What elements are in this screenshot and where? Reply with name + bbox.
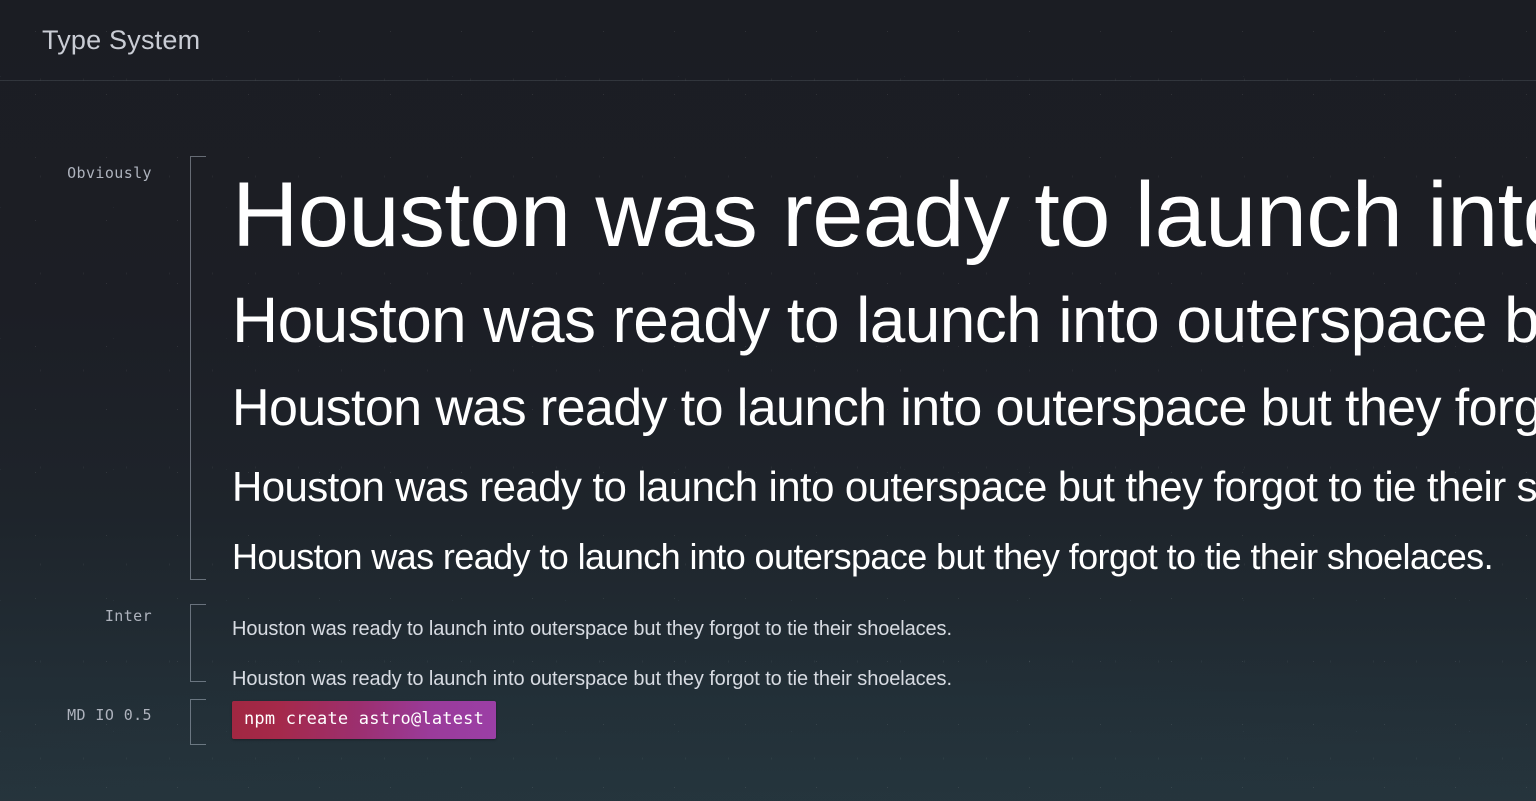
specimen-line: Houston was ready to launch into outersp… <box>232 274 1536 366</box>
page-root: Type System Obviously Houston was ready … <box>0 0 1536 801</box>
group-bracket <box>190 699 206 745</box>
page-header: Type System <box>0 0 1536 81</box>
specimen-lines: Houston was ready to launch into outersp… <box>206 156 1536 590</box>
specimen-group-obviously: Obviously Houston was ready to launch in… <box>0 156 1536 580</box>
specimen-group-code: MD IO 0.5 npm create astro@latest <box>0 699 1536 745</box>
specimen-group-label: Inter <box>0 604 152 624</box>
specimen-group-inter: Inter Houston was ready to launch into o… <box>0 604 1536 682</box>
page-title: Type System <box>42 27 200 54</box>
specimen-lines: npm create astro@latest <box>206 699 1536 739</box>
specimen-line: Houston was ready to launch into outersp… <box>232 654 1536 704</box>
specimen-line: Houston was ready to launch into outersp… <box>232 156 1536 274</box>
group-bracket <box>190 156 206 580</box>
specimen-line: Houston was ready to launch into outersp… <box>232 366 1536 450</box>
specimen-line: Houston was ready to launch into outersp… <box>232 604 1536 654</box>
type-specimen-stage: Obviously Houston was ready to launch in… <box>0 81 1536 801</box>
specimen-group-label: MD IO 0.5 <box>0 699 152 723</box>
specimen-lines: Houston was ready to launch into outersp… <box>206 604 1536 704</box>
group-bracket <box>190 604 206 682</box>
code-snippet-chip[interactable]: npm create astro@latest <box>232 701 496 739</box>
specimen-line: Houston was ready to launch into outersp… <box>232 450 1536 524</box>
specimen-group-label: Obviously <box>0 156 152 181</box>
specimen-line: Houston was ready to launch into outersp… <box>232 524 1536 590</box>
